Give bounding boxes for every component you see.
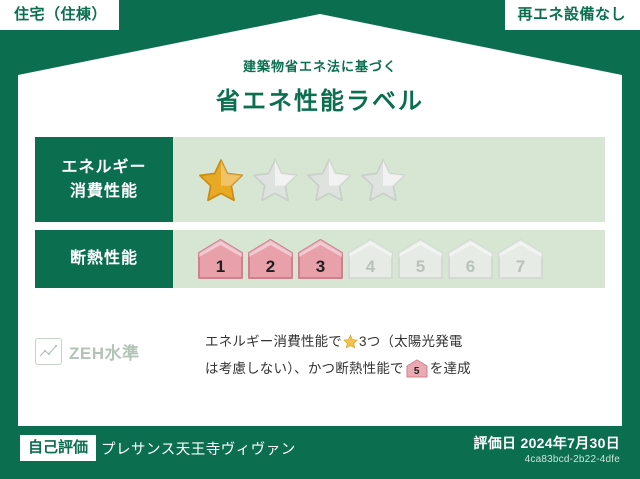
label-root: 住宅（住棟） 再エネ設備なし 建築物省エネ法に基づく 省エネ性能ラベル エネルギ…: [0, 0, 640, 479]
star-2-empty: [251, 157, 299, 203]
row-insulation-label: 断熱性能: [35, 230, 173, 288]
zeh-description: エネルギー消費性能で3つ（太陽光発電 は考慮しない）、かつ断熱性能で5を達成: [205, 330, 471, 380]
row-energy-body: [173, 137, 605, 222]
insulation-level-4: 4: [347, 238, 394, 280]
insulation-level-7: 7: [497, 238, 544, 280]
inline-house-number: 5: [406, 367, 428, 377]
zeh-desc-part2: 3つ（太陽光発電: [359, 334, 463, 349]
inline-house-badge: 5: [406, 359, 428, 378]
title-subtitle: 建築物省エネ法に基づく: [0, 56, 640, 75]
inline-star-icon: [343, 333, 358, 357]
footer-bar: 自己評価 プレサンス天王寺ヴィヴァン 評価日 2024年7月30日 4ca83b…: [0, 426, 640, 479]
page-title: 省エネ性能ラベル: [0, 81, 640, 116]
star-rating: [197, 157, 407, 203]
row-insulation-body: 1234567: [173, 230, 605, 288]
row-energy-performance: エネルギー 消費性能: [35, 137, 605, 222]
star-4-empty: [359, 157, 407, 203]
zeh-standard: ZEH水準: [35, 330, 205, 365]
row-energy-label-line1: エネルギー: [61, 156, 146, 179]
insulation-level-2: 2: [247, 238, 294, 280]
insulation-level-6: 6: [447, 238, 494, 280]
row-insulation-label-text: 断熱性能: [70, 247, 138, 270]
row-insulation-performance: 断熱性能 1234567: [35, 230, 605, 288]
evaluation-date: 評価日 2024年7月30日: [473, 433, 620, 453]
title-block: 建築物省エネ法に基づく 省エネ性能ラベル: [0, 56, 640, 116]
zeh-chart-icon: [35, 338, 62, 365]
star-3-empty: [305, 157, 353, 203]
row-energy-label: エネルギー 消費性能: [35, 137, 173, 222]
insulation-level-number: 2: [247, 258, 294, 275]
building-name: プレサンス天王寺ヴィヴァン: [101, 438, 296, 459]
zeh-desc-part3: は考慮しない）、かつ断熱性能で: [205, 361, 404, 376]
evaluation-id: 4ca83bcd-2b22-4dfe: [525, 454, 620, 465]
insulation-level-number: 3: [297, 258, 344, 275]
tag-renewable-equipment: 再エネ設備なし: [505, 0, 640, 30]
star-1-filled: [197, 157, 245, 203]
tag-building-type: 住宅（住棟）: [0, 0, 119, 30]
insulation-level-number: 6: [447, 258, 494, 275]
insulation-level-3: 3: [297, 238, 344, 280]
self-evaluation-badge: 自己評価: [20, 435, 96, 461]
row-energy-label-line2: 消費性能: [70, 180, 138, 203]
insulation-level-5: 5: [397, 238, 444, 280]
insulation-level-number: 5: [397, 258, 444, 275]
insulation-level-1: 1: [197, 238, 244, 280]
ratings-container: エネルギー 消費性能 断熱性能 1234567: [35, 137, 605, 296]
insulation-level-number: 7: [497, 258, 544, 275]
insulation-level-number: 4: [347, 258, 394, 275]
zeh-note: ZEH水準 エネルギー消費性能で3つ（太陽光発電 は考慮しない）、かつ断熱性能で…: [35, 330, 605, 380]
zeh-desc-part1: エネルギー消費性能で: [205, 334, 342, 349]
zeh-label: ZEH水準: [69, 339, 140, 364]
zeh-desc-part4: を達成: [430, 361, 471, 376]
insulation-level-number: 1: [197, 258, 244, 275]
insulation-level-scale: 1234567: [197, 238, 544, 280]
